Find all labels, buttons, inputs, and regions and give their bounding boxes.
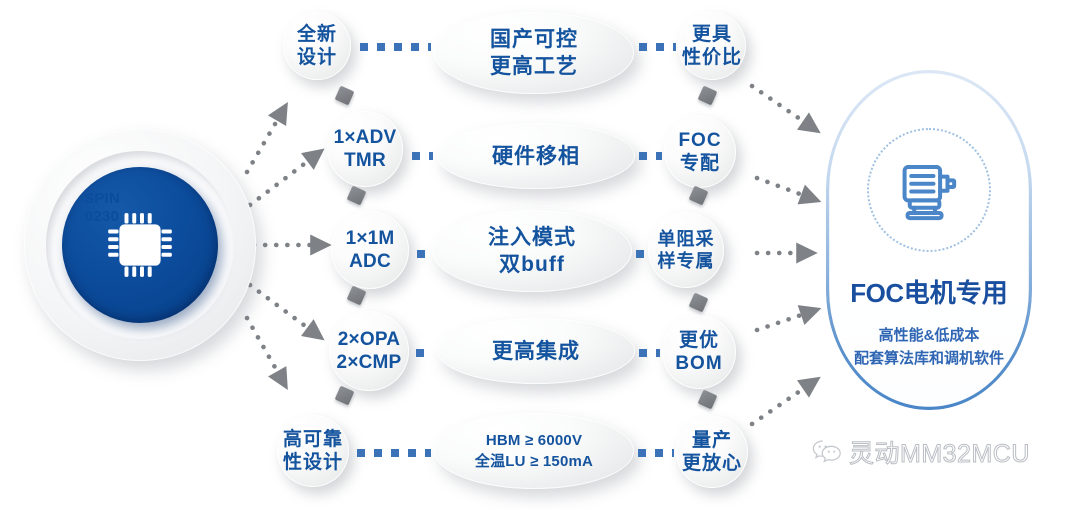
diagram-canvas: SPIN 0230 全新 设计 国产可控 更高工艺 更具 性价比 1×ADV T… bbox=[0, 0, 1080, 509]
wechat-icon bbox=[812, 439, 842, 465]
watermark-label: 灵动MM32MCU bbox=[849, 434, 1030, 470]
watermark: 灵动MM32MCU bbox=[812, 434, 1030, 470]
blue-dot-connectors-layer bbox=[0, 0, 1080, 509]
